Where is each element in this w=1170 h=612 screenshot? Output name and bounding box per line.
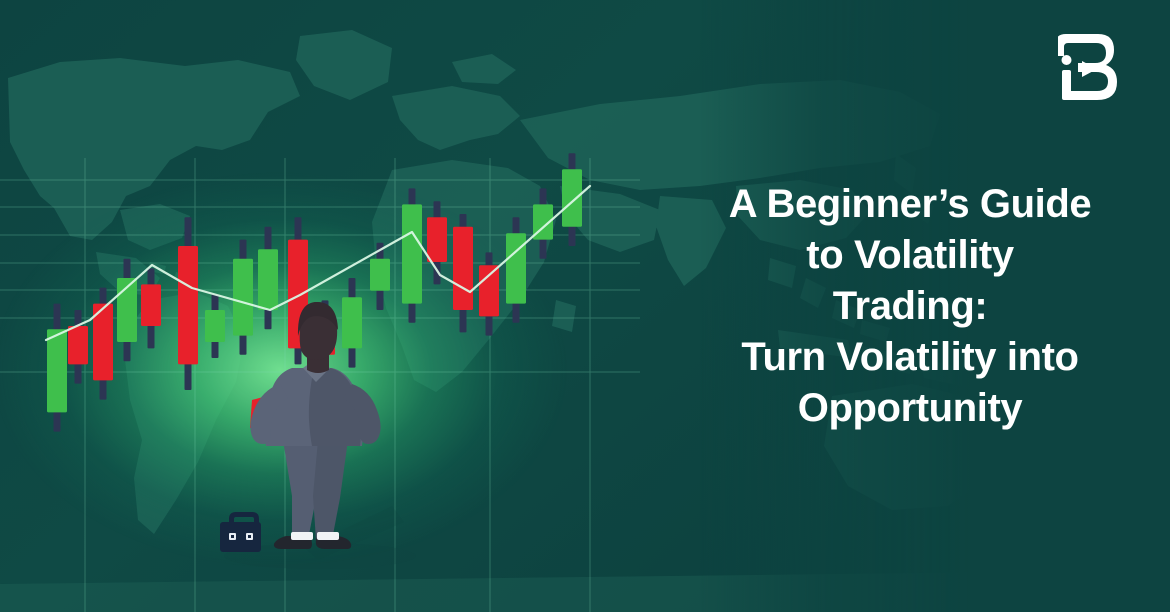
ib-monogram-logo[interactable] [1058, 30, 1128, 104]
candle-body [47, 329, 67, 412]
candle-body [479, 265, 499, 316]
candle-body [370, 259, 390, 291]
candle-body [342, 297, 362, 348]
title-line-1: A Beginner’s Guide [729, 179, 1092, 230]
title-line-3: Trading: [833, 281, 988, 332]
candle-body [562, 169, 582, 227]
candle-series [47, 153, 582, 431]
candle-body [453, 227, 473, 310]
candle-body [427, 217, 447, 262]
candle-body [178, 246, 198, 364]
title-line-4: Turn Volatility into [741, 332, 1078, 383]
title-line-5: Opportunity [798, 383, 1022, 434]
logo-i-dot [1062, 55, 1072, 65]
candle-body [205, 310, 225, 342]
candle-body [315, 316, 335, 354]
candle-body [288, 240, 308, 349]
title-line-2: to Volatility [806, 230, 1013, 281]
candle-body [68, 326, 88, 364]
candle-body [258, 249, 278, 310]
banner-canvas: A Beginner’s Guide to Volatility Trading… [0, 0, 1170, 612]
candle-body [233, 259, 253, 336]
candlestick-chart [0, 0, 660, 612]
candle-body [141, 284, 161, 326]
candle-body [402, 204, 422, 303]
